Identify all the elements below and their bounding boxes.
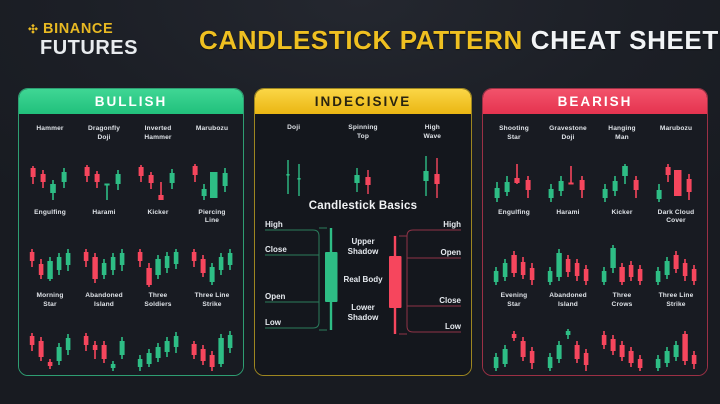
pattern-label: Three Crows (612, 292, 633, 310)
pattern-kicker-bullish[interactable]: Kicker (131, 204, 185, 288)
card-bullish: BULLISH Hammer (18, 88, 244, 376)
pattern-shooting-star[interactable]: Shooting Star (487, 120, 541, 204)
brand-futures-text: FUTURES (40, 38, 186, 59)
pattern-label: Kicker (147, 209, 168, 227)
basics-left-label-close: Close (265, 245, 287, 254)
card-indecisive: INDECISIVE Doji (254, 88, 472, 376)
pattern-label: Abandoned Island (85, 292, 123, 310)
brand-top-row: BINANCE (26, 22, 186, 37)
pattern-chart (541, 143, 595, 204)
basics-left-label-low: Low (265, 318, 282, 327)
pattern-chart (328, 143, 397, 198)
pattern-chart (541, 227, 595, 288)
pattern-abandoned-island-bullish[interactable]: Abandoned Island (77, 287, 131, 371)
pattern-three-crows[interactable]: Three Crows (595, 287, 649, 371)
pattern-chart (541, 310, 595, 371)
basics-center-label-upper-shadow: Upper (351, 237, 374, 246)
pattern-spinning-top[interactable]: Spinning Top (328, 124, 397, 198)
pattern-label: Dark Cloud Cover (658, 209, 695, 227)
pattern-engulfing-bullish[interactable]: Engulfing (23, 204, 77, 288)
cards-container: BULLISH Hammer (18, 88, 708, 376)
pattern-evening-star[interactable]: Evening Star (487, 287, 541, 371)
pattern-hammer[interactable]: Hammer (23, 120, 77, 204)
pattern-chart (131, 227, 185, 288)
cheat-sheet-page: BINANCE FUTURES CANDLESTICK PATTERN CHEA… (0, 0, 720, 404)
pattern-row: Engulfing (487, 204, 703, 288)
basics-left-label-high: High (265, 220, 283, 229)
basics-title: Candlestick Basics (259, 200, 467, 212)
basics-right-label-close: Close (439, 296, 461, 305)
pattern-row: Engulfing (23, 204, 239, 288)
page-title: CANDLESTICK PATTERN CHEAT SHEET (199, 25, 719, 56)
pattern-harami-bearish[interactable]: Harami (541, 204, 595, 288)
pattern-chart (595, 310, 649, 371)
pattern-three-line-strike-bearish[interactable]: Three Line Strike (649, 287, 703, 371)
pattern-label: Morning Star (36, 292, 63, 310)
brand-binance-text: BINANCE (43, 22, 113, 37)
pattern-chart (595, 227, 649, 288)
basics-red-candle (389, 236, 402, 334)
pattern-chart (649, 310, 703, 371)
pattern-label: Gravestone Doji (549, 125, 587, 143)
pattern-chart (131, 143, 185, 204)
pattern-chart (487, 227, 541, 288)
pattern-label: Shooting Star (499, 125, 529, 143)
pattern-dragonfly-doji[interactable]: Dragonfly Doji (77, 120, 131, 204)
pattern-label: Abandoned Island (549, 292, 587, 310)
pattern-row: Shooting Star (487, 120, 703, 204)
pattern-chart (185, 310, 239, 371)
binance-diamond-icon (26, 23, 40, 37)
pattern-chart (77, 310, 131, 371)
pattern-chart (487, 143, 541, 204)
svg-text:Shadow: Shadow (348, 313, 379, 322)
pattern-chart (649, 227, 703, 288)
pattern-three-line-strike-bullish[interactable]: Three Line Strike (185, 287, 239, 371)
pattern-high-wave[interactable]: High Wave (398, 124, 467, 198)
pattern-label: Spinning Top (348, 124, 377, 143)
pattern-marubozu-bearish[interactable]: Marubozu (649, 120, 703, 204)
card-body-bearish: Shooting Star (483, 114, 707, 375)
pattern-chart (649, 143, 703, 204)
pattern-abandoned-island-bearish[interactable]: Abandoned Island (541, 287, 595, 371)
pattern-chart (398, 143, 467, 198)
pattern-engulfing-bearish[interactable]: Engulfing (487, 204, 541, 288)
card-header-bearish: BEARISH (483, 89, 707, 114)
pattern-label: Harami (556, 209, 579, 227)
pattern-chart (595, 143, 649, 204)
pattern-hanging-man[interactable]: Hanging Man (595, 120, 649, 204)
pattern-label: Engulfing (498, 209, 530, 227)
basics-right-label-low: Low (445, 322, 462, 331)
pattern-gravestone-doji[interactable]: Gravestone Doji (541, 120, 595, 204)
pattern-label: Doji (287, 124, 300, 143)
pattern-chart (23, 227, 77, 288)
binance-futures-logo: BINANCE FUTURES (26, 22, 186, 59)
pattern-label: Harami (92, 209, 115, 227)
pattern-label: Three Line Strike (195, 292, 230, 310)
pattern-kicker-bearish[interactable]: Kicker (595, 204, 649, 288)
pattern-inverted-hammer[interactable]: Inverted Hammer (131, 120, 185, 204)
pattern-chart (185, 227, 239, 288)
candlestick-basics-diagram: High Close Open Low High Open Close Low … (259, 214, 467, 371)
pattern-row: Morning Star (23, 287, 239, 371)
card-header-indecisive: INDECISIVE (255, 89, 471, 114)
pattern-row: Evening Star (487, 287, 703, 371)
pattern-label: Three Soldiers (144, 292, 171, 310)
basics-center-label-real-body: Real Body (343, 275, 383, 284)
pattern-label: Hammer (36, 125, 63, 143)
pattern-chart (77, 227, 131, 288)
svg-text:Shadow: Shadow (348, 247, 379, 256)
basics-left-label-open: Open (265, 292, 286, 301)
pattern-morning-star[interactable]: Morning Star (23, 287, 77, 371)
card-header-bullish: BULLISH (19, 89, 243, 114)
basics-right-label-high: High (443, 220, 461, 229)
pattern-chart (487, 310, 541, 371)
pattern-label: Kicker (611, 209, 632, 227)
pattern-chart (259, 143, 328, 198)
basics-green-candle (325, 228, 338, 330)
pattern-chart (77, 143, 131, 204)
pattern-label: Dragonfly Doji (88, 125, 120, 143)
page-header: BINANCE FUTURES CANDLESTICK PATTERN CHEA… (0, 0, 720, 78)
pattern-chart (185, 143, 239, 204)
basics-center-label-lower-shadow: Lower (351, 303, 375, 312)
pattern-label: Three Line Strike (659, 292, 694, 310)
pattern-chart (23, 143, 77, 204)
basics-right-label-open: Open (441, 248, 462, 257)
indecisive-pattern-row: Doji Spinning Top (259, 120, 467, 198)
pattern-label: Inverted Hammer (144, 125, 171, 143)
pattern-label: Evening Star (501, 292, 528, 310)
pattern-row: Hammer (23, 120, 239, 204)
pattern-doji[interactable]: Doji (259, 124, 328, 198)
pattern-label: Marubozu (196, 125, 228, 143)
page-title-rest: CHEAT SHEET (523, 25, 719, 55)
pattern-three-soldiers[interactable]: Three Soldiers (131, 287, 185, 371)
card-bearish: BEARISH Shooting Star (482, 88, 708, 376)
card-body-bullish: Hammer (19, 114, 243, 375)
pattern-label: Piercing Line (198, 209, 225, 227)
pattern-marubozu-bullish[interactable]: Marubozu (185, 120, 239, 204)
pattern-chart (131, 310, 185, 371)
pattern-harami-bullish[interactable]: Harami (77, 204, 131, 288)
pattern-piercing-line[interactable]: Piercing Line (185, 204, 239, 288)
page-title-highlight: CANDLESTICK PATTERN (199, 25, 523, 55)
card-body-indecisive: Doji Spinning Top (255, 114, 471, 375)
pattern-label: Marubozu (660, 125, 692, 143)
pattern-dark-cloud-cover[interactable]: Dark Cloud Cover (649, 204, 703, 288)
pattern-chart (23, 310, 77, 371)
pattern-label: High Wave (424, 124, 442, 143)
pattern-label: Engulfing (34, 209, 66, 227)
pattern-label: Hanging Man (608, 125, 635, 143)
